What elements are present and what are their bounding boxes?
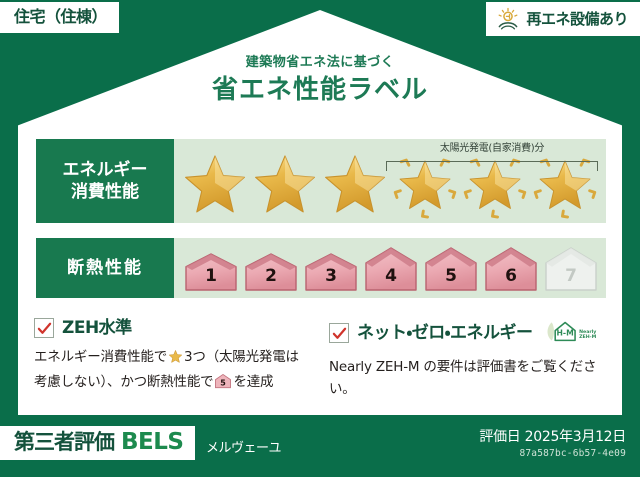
nze-description: Nearly ZEH-M の要件は評価書をご覧ください。 — [329, 356, 606, 401]
insulation-legend-label: 断熱性能 — [67, 257, 143, 279]
svg-text:5: 5 — [221, 379, 227, 388]
insulation-rating-field: 1 2 — [174, 238, 606, 298]
renewable-equipment-chip: 再エネ設備あり — [486, 2, 640, 36]
svg-text:H-M: H-M — [556, 329, 573, 338]
solar-bracket — [386, 161, 598, 171]
house-5-icon: 5 — [214, 373, 232, 396]
star-icon — [168, 349, 183, 371]
star-icon — [320, 158, 390, 220]
insulation-performance-legend: 断熱性能 — [36, 238, 174, 298]
evaluation-info: 評価日 2025年3月12日 87a587bc-6b57-4e09 — [479, 429, 626, 458]
zeh-desc-part3: を達成 — [233, 374, 273, 390]
criteria-section: ZEH水準 エネルギー消費性能で3つ（太陽光発電は考慮しない）、かつ断熱性能で5… — [34, 318, 606, 401]
building-name: メルヴェーユ — [206, 442, 281, 455]
nze-title: ネット・ゼロ・エネルギー — [357, 325, 533, 342]
bels-en-label: BELS — [121, 431, 183, 454]
energy-performance-legend: エネルギー 消費性能 — [36, 139, 174, 223]
energy-legend-line1: エネルギー — [63, 159, 148, 181]
page-title: 省エネ性能ラベル — [0, 74, 640, 107]
criteria-nze-column: ネット・ゼロ・エネルギー H-M Nearly ZEH-M Nearly ZEH… — [329, 318, 606, 401]
zeh-description: エネルギー消費性能で3つ（太陽光発電は考慮しない）、かつ断熱性能で5を達成 — [34, 346, 311, 397]
zeh-check-icon — [34, 318, 54, 338]
insulation-grade-box-active: 3 — [302, 252, 360, 292]
energy-rating-field: 太陽光発電(自家消費)分 — [174, 139, 606, 223]
nearly-zeh-m-logo: H-M Nearly ZEH-M — [543, 318, 599, 348]
renewable-chip-label: 再エネ設備あり — [526, 12, 628, 27]
insulation-grade-box-active: 2 — [242, 252, 300, 292]
criteria-zeh-column: ZEH水準 エネルギー消費性能で3つ（太陽光発電は考慮しない）、かつ断熱性能で5… — [34, 318, 311, 401]
title-subtitle: 建築物省エネ法に基づく — [0, 56, 640, 70]
dwelling-type-chip: 住宅（住棟） — [0, 2, 119, 33]
zeh-desc-part1: エネルギー消費性能で — [34, 349, 167, 365]
solar-bracket-caption: 太陽光発電(自家消費)分 — [386, 144, 598, 154]
insulation-grade-box-active: 1 — [182, 252, 240, 292]
nze-check-icon — [329, 323, 349, 343]
nze-heading: ネット・ゼロ・エネルギー H-M Nearly ZEH-M — [329, 318, 606, 348]
star-icon — [180, 158, 250, 220]
svg-text:ZEH-M: ZEH-M — [579, 334, 596, 340]
insulation-grade-box-active: 5 — [422, 246, 480, 292]
zeh-heading: ZEH水準 — [34, 318, 311, 338]
star-icon — [250, 158, 320, 220]
sun-solar-icon — [496, 7, 520, 31]
insulation-grade-box-inactive: 7 — [542, 246, 600, 292]
bels-jp-label: 第三者評価 — [14, 432, 114, 453]
energy-performance-row: エネルギー 消費性能 太陽光発電(自家消費)分 — [36, 139, 606, 223]
evaluation-id: 87a587bc-6b57-4e09 — [479, 449, 626, 459]
insulation-grade-scale: 1 2 — [182, 246, 600, 292]
insulation-grade-box-active: 4 — [362, 246, 420, 292]
insulation-grade-box-active: 6 — [482, 246, 540, 292]
energy-performance-label: 住宅（住棟） 再エネ設備あり 建築物省エネ法に基づく 省エネ性能ラベル — [0, 0, 640, 477]
insulation-performance-row: 断熱性能 1 — [36, 238, 606, 298]
evaluation-date: 評価日 2025年3月12日 — [479, 429, 626, 446]
label-footer: 第三者評価 BELS メルヴェーユ 評価日 2025年3月12日 87a587b… — [0, 415, 640, 477]
zeh-title: ZEH水準 — [62, 320, 132, 337]
label-title-block: 建築物省エネ法に基づく 省エネ性能ラベル — [0, 56, 640, 107]
energy-legend-line2: 消費性能 — [71, 181, 139, 203]
bels-chip: 第三者評価 BELS — [0, 426, 195, 460]
